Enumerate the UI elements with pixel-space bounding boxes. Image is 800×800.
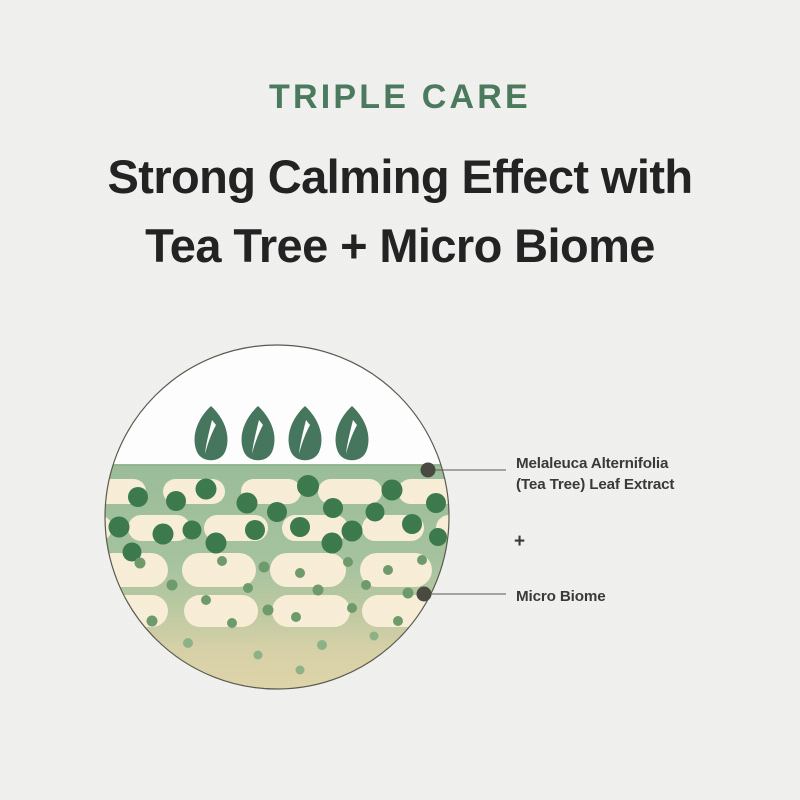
label-tea-tree-extract: Melaleuca Alternifolia (Tea Tree) Leaf E…	[516, 453, 674, 495]
micro-biome-connector-dot	[417, 587, 432, 602]
skin-cross-section-diagram	[0, 0, 800, 800]
epidermis-edge	[100, 464, 460, 466]
label-plus-separator: +	[514, 531, 525, 552]
tea-tree-connector	[421, 463, 507, 478]
tea-tree-connector-dot	[421, 463, 436, 478]
label-micro-biome: Micro Biome	[516, 586, 606, 607]
poster-canvas: TRIPLE CARE Strong Calming Effect with T…	[0, 0, 800, 800]
